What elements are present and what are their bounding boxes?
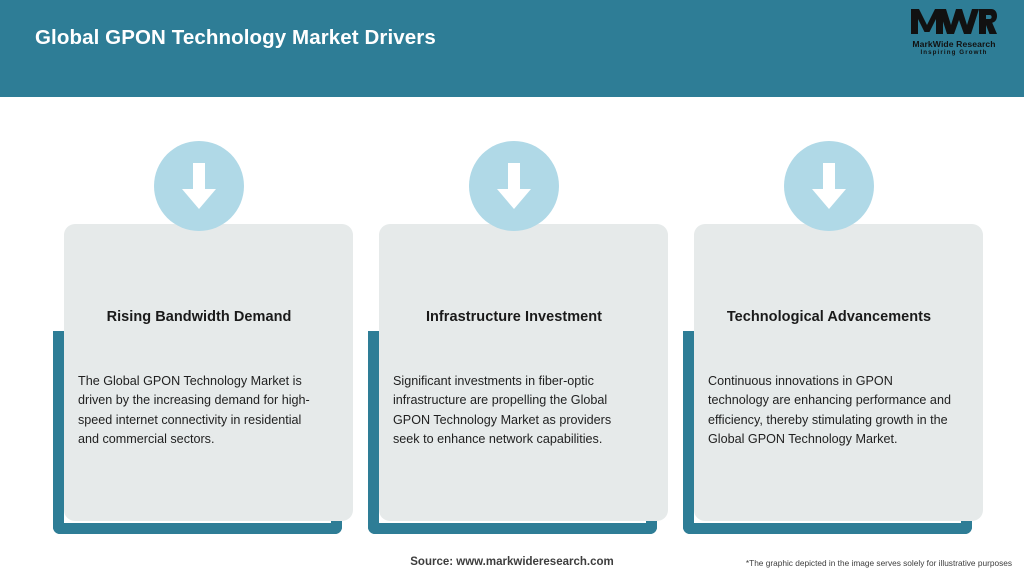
markwide-logo-icon	[902, 8, 1006, 39]
card-body: Continuous innovations in GPON technolog…	[708, 372, 953, 449]
logo-name: MarkWide Research	[902, 40, 1006, 49]
logo: MarkWide Research Inspiring Growth	[902, 8, 1006, 56]
arrow-down-icon	[469, 141, 559, 231]
disclaimer-label: *The graphic depicted in the image serve…	[746, 558, 1012, 568]
driver-card: Technological Advancements Continuous in…	[683, 141, 975, 534]
driver-card: Infrastructure Investment Significant in…	[368, 141, 660, 534]
drivers-card-row: Rising Bandwidth Demand The Global GPON …	[0, 97, 1024, 537]
logo-tagline: Inspiring Growth	[902, 50, 1006, 56]
arrow-down-icon	[784, 141, 874, 231]
driver-card: Rising Bandwidth Demand The Global GPON …	[53, 141, 345, 534]
arrow-down-icon	[154, 141, 244, 231]
card-body: Significant investments in fiber-optic i…	[393, 372, 638, 449]
header-band: Global GPON Technology Market Drivers Ma…	[0, 0, 1024, 97]
page-title: Global GPON Technology Market Drivers	[35, 26, 436, 50]
card-title: Technological Advancements	[695, 309, 963, 325]
card-body: The Global GPON Technology Market is dri…	[78, 372, 323, 449]
card-title: Rising Bandwidth Demand	[65, 309, 333, 325]
card-title: Infrastructure Investment	[380, 309, 648, 325]
